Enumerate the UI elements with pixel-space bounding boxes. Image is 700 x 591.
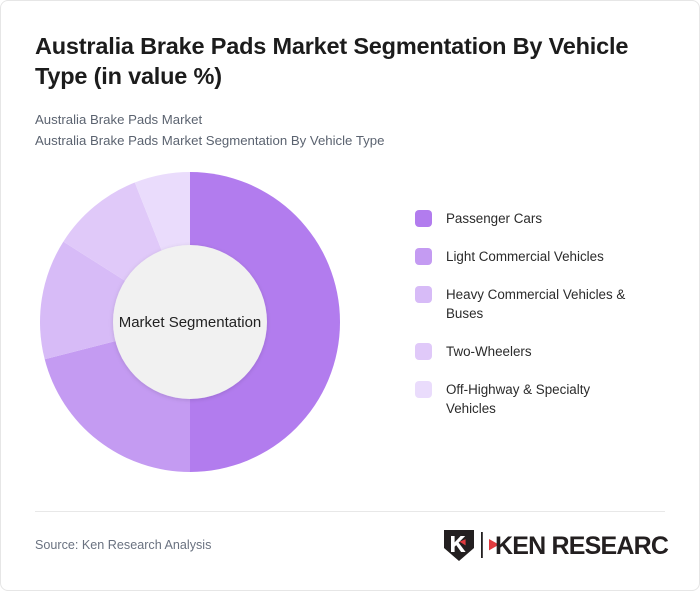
legend-item[interactable]: Passenger Cars bbox=[415, 209, 665, 228]
legend-swatch-icon bbox=[415, 343, 432, 360]
ken-research-logo-svg: KEN RESEARCH bbox=[441, 528, 669, 562]
donut-svg bbox=[35, 167, 345, 477]
chart-legend: Passenger CarsLight Commercial VehiclesH… bbox=[345, 167, 665, 437]
subtitle-segmentation: Australia Brake Pads Market Segmentation… bbox=[35, 131, 665, 151]
ken-research-logo: KEN RESEARCH bbox=[441, 528, 669, 562]
chart-header: Australia Brake Pads Market Segmentation… bbox=[1, 1, 699, 151]
chart-body: Market Segmentation Passenger CarsLight … bbox=[1, 167, 699, 487]
logo-wordmark: KEN RESEARCH bbox=[495, 532, 669, 560]
legend-item-label: Passenger Cars bbox=[446, 209, 542, 228]
logo-divider bbox=[481, 532, 483, 558]
footer-divider bbox=[35, 511, 665, 512]
legend-item-label: Light Commercial Vehicles bbox=[446, 247, 604, 266]
subtitle-market: Australia Brake Pads Market bbox=[35, 110, 665, 130]
legend-item[interactable]: Heavy Commercial Vehicles & Buses bbox=[415, 285, 665, 323]
chart-footer: Source: Ken Research Analysis KEN RESEAR… bbox=[35, 528, 669, 562]
shield-icon bbox=[444, 530, 474, 561]
source-note: Source: Ken Research Analysis bbox=[35, 538, 211, 552]
legend-item-label: Heavy Commercial Vehicles & Buses bbox=[446, 285, 631, 323]
chart-card: Australia Brake Pads Market Segmentation… bbox=[0, 0, 700, 591]
legend-swatch-icon bbox=[415, 381, 432, 398]
legend-item-label: Two-Wheelers bbox=[446, 342, 532, 361]
legend-item[interactable]: Off-Highway & Specialty Vehicles bbox=[415, 380, 665, 418]
legend-swatch-icon bbox=[415, 248, 432, 265]
legend-item[interactable]: Two-Wheelers bbox=[415, 342, 665, 361]
donut-center-circle bbox=[113, 245, 267, 399]
page-title: Australia Brake Pads Market Segmentation… bbox=[35, 31, 665, 91]
legend-item[interactable]: Light Commercial Vehicles bbox=[415, 247, 665, 266]
donut-chart: Market Segmentation bbox=[35, 167, 345, 477]
subtitle-group: Australia Brake Pads Market Australia Br… bbox=[35, 110, 665, 151]
legend-swatch-icon bbox=[415, 286, 432, 303]
legend-swatch-icon bbox=[415, 210, 432, 227]
legend-item-label: Off-Highway & Specialty Vehicles bbox=[446, 380, 631, 418]
